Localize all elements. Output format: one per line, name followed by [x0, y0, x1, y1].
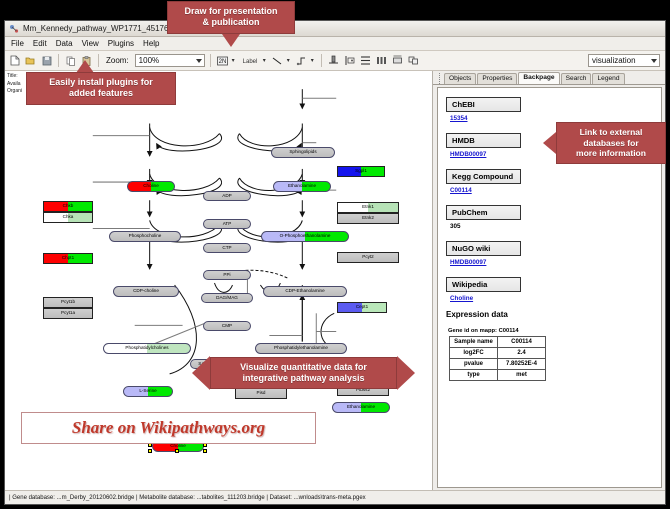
node-ethanolamine-bottom[interactable]: Ethanolamine	[332, 402, 390, 413]
callout-visualize-line1: Visualize quantitative data for	[215, 362, 392, 373]
backpage-heading-pubchem: PubChem	[446, 205, 521, 220]
node-label: CDP-Ethanolamine	[285, 289, 324, 294]
tab-objects[interactable]: Objects	[444, 73, 476, 84]
node-label: DAG/MAG	[216, 296, 238, 301]
table-row: log2FC 2.4	[450, 348, 546, 359]
node-label: CTP	[222, 246, 231, 251]
node-ppi[interactable]: PPi	[203, 270, 251, 280]
node-label: Choline	[170, 444, 186, 449]
table-row: type met	[450, 370, 546, 381]
backpage-link-wikipedia[interactable]: Choline	[450, 295, 661, 302]
menu-bar[interactable]: File Edit Data View Plugins Help	[5, 37, 665, 51]
expression-data-title: Expression data	[446, 310, 661, 319]
menu-item-data[interactable]: Data	[55, 39, 74, 48]
node-sgpl1[interactable]: Sgpl1	[337, 166, 385, 177]
node-choline-top[interactable]: Choline	[127, 181, 175, 192]
node-etnk2[interactable]: Etnk2	[337, 213, 399, 224]
node-label: Phosphocholine	[129, 234, 162, 239]
node-label: Sphingolipids	[289, 150, 316, 155]
title-bar: Mm_Kennedy_pathway_WP1771_45176.gpml	[5, 21, 665, 37]
expr-key-pvalue: pvalue	[450, 359, 498, 370]
line-dropdown-icon[interactable]: ▾	[287, 57, 290, 64]
visualization-value: visualization	[592, 56, 636, 65]
distribute-icon[interactable]	[375, 54, 388, 68]
meta-available: Availa	[7, 81, 22, 89]
toolbar-separator	[321, 54, 322, 67]
node-phosphatidylcholines[interactable]: Phosphatidylcholines	[103, 343, 191, 354]
stack-icon[interactable]	[359, 54, 372, 68]
resize-handle-s[interactable]	[175, 449, 179, 453]
node-label: L-Serine	[139, 389, 156, 394]
pathvisio-icon	[9, 24, 19, 34]
expr-val-log2fc: 2.4	[498, 348, 546, 359]
group-icon[interactable]	[407, 54, 420, 68]
backpage-value-pubchem: 305	[450, 223, 661, 230]
node-label: Pisd	[257, 391, 266, 396]
interaction-dropdown-icon[interactable]: ▾	[311, 57, 314, 64]
node-pcyt2[interactable]: Pcyt2	[337, 252, 399, 263]
callout-link-line1: Link to external	[563, 127, 659, 138]
callout-link: Link to external databases for more info…	[543, 122, 666, 164]
node-label: Chka	[63, 215, 74, 220]
expr-val-pvalue: 7.80252E-4	[498, 359, 546, 370]
tab-legend[interactable]: Legend	[592, 73, 624, 84]
backpage-heading-wikipedia: Wikipedia	[446, 277, 521, 292]
menu-item-help[interactable]: Help	[142, 39, 160, 48]
backpage-link-chebi[interactable]: 15354	[450, 115, 661, 122]
node-cept1[interactable]: Cept1	[337, 302, 387, 313]
expr-key-sample: Sample name	[450, 337, 498, 348]
gene-id-line: Gene id on mapp: C00114	[448, 328, 661, 334]
node-label: Etnk1	[362, 205, 374, 210]
node-chpt1[interactable]: Chpt1	[43, 253, 93, 264]
callout-plugins-line2: added features	[33, 88, 169, 99]
chevron-down-icon[interactable]	[196, 59, 202, 63]
node-label: Choline	[143, 184, 159, 189]
callout-plugins: Easily install plugins for added feature…	[26, 60, 176, 105]
line-icon[interactable]	[271, 54, 284, 68]
share-callout-text: Share on Wikipathways.org	[72, 418, 265, 438]
node-dagmag[interactable]: DAG/MAG	[201, 293, 253, 303]
callout-link-line3: more information	[563, 148, 659, 159]
callout-link-line2: databases for	[563, 138, 659, 149]
tab-search[interactable]: Search	[561, 73, 592, 84]
window-title: Mm_Kennedy_pathway_WP1771_45176.gpml	[23, 24, 188, 33]
menu-item-edit[interactable]: Edit	[32, 39, 48, 48]
expr-key-type: type	[450, 370, 498, 381]
node-o-phosphoethanolamine[interactable]: O-Phosphoethanolamine	[261, 231, 349, 242]
node-cdp-choline[interactable]: CDP-choline	[113, 286, 179, 297]
meta-organism: Organi	[7, 88, 22, 96]
status-text: | Gene database: ...m_Derby_20120602.bri…	[9, 495, 366, 501]
callout-visualize-arrow-left-icon	[192, 356, 210, 390]
tab-grip	[439, 73, 442, 84]
node-cdp-ethanolamine[interactable]: CDP-Ethanolamine	[263, 286, 347, 297]
new-icon[interactable]	[8, 54, 21, 68]
callout-visualize: Visualize quantitative data for integrat…	[192, 356, 415, 390]
node-label: Chkb	[63, 204, 74, 209]
resize-handle-sw[interactable]	[148, 449, 152, 453]
callout-draw-line1: Draw for presentation	[174, 6, 288, 17]
node-ctp[interactable]: CTP	[203, 243, 251, 253]
node-l-serine-left[interactable]: L-Serine	[123, 386, 173, 397]
backpage-heading-nugo: NuGO wiki	[446, 241, 521, 256]
backpage-link-nugo[interactable]: HMDB00097	[450, 259, 661, 266]
pathway-metadata: Title: Availa Organi	[7, 73, 22, 96]
node-label: Cept1	[356, 305, 368, 310]
menu-item-view[interactable]: View	[81, 39, 100, 48]
pathway-canvas[interactable]: Title: Availa Organi	[5, 71, 433, 490]
callout-plugins-line1: Easily install plugins for	[33, 77, 169, 88]
meta-title: Title:	[7, 73, 22, 81]
label-icon[interactable]: Label	[240, 54, 260, 68]
datanode-icon[interactable]: 2N	[216, 54, 229, 68]
node-label: ADP	[222, 194, 231, 199]
node-label: O-Phosphoethanolamine	[280, 234, 331, 239]
callout-draw-arrow-icon	[222, 34, 240, 47]
node-label: CDP-choline	[133, 289, 159, 294]
expr-val-type: met	[498, 370, 546, 381]
callout-link-box: Link to external databases for more info…	[556, 122, 666, 164]
label-dropdown-icon[interactable]: ▾	[263, 57, 266, 64]
node-label: Etnk2	[362, 216, 374, 221]
node-chka[interactable]: Chka	[43, 212, 93, 223]
callout-draw-box: Draw for presentation & publication	[167, 1, 295, 34]
menu-item-file[interactable]: File	[10, 39, 25, 48]
node-label: Ethanolamine	[288, 184, 316, 189]
callout-visualize-box: Visualize quantitative data for integrat…	[210, 357, 397, 390]
node-ethanolamine-top[interactable]: Ethanolamine	[273, 181, 331, 192]
resize-handle-se[interactable]	[203, 449, 207, 453]
node-atp[interactable]: ATP	[203, 219, 251, 229]
align-top-icon[interactable]	[327, 54, 340, 68]
interaction-icon[interactable]	[295, 54, 308, 68]
node-label: ATP	[223, 222, 232, 227]
status-bar: | Gene database: ...m_Derby_20120602.bri…	[5, 490, 665, 504]
node-phosphocholine[interactable]: Phosphocholine	[109, 231, 181, 242]
callout-visualize-line2: integrative pathway analysis	[215, 373, 392, 384]
callout-plugins-box: Easily install plugins for added feature…	[26, 72, 176, 105]
table-row: Sample name C00114	[450, 337, 546, 348]
node-phosphatidylethanolamine[interactable]: Phosphatidylethanolamine	[255, 343, 347, 354]
backpage-link-kegg[interactable]: C00114	[450, 187, 661, 194]
datanode-dropdown-icon[interactable]: ▾	[232, 57, 235, 64]
toolbar-separator	[210, 54, 211, 67]
node-sphingolipids[interactable]: Sphingolipids	[271, 147, 335, 158]
node-label: Pcyt1a	[61, 311, 75, 316]
node-adp[interactable]: ADP	[203, 191, 251, 201]
node-label: Phosphatidylethanolamine	[274, 346, 328, 351]
node-label: PPi	[223, 273, 230, 278]
node-pcyt1b[interactable]: Pcyt1b	[43, 297, 93, 308]
expr-val-sample: C00114	[498, 337, 546, 348]
callout-draw-line2: & publication	[174, 17, 288, 28]
tab-properties[interactable]: Properties	[477, 73, 517, 84]
expr-key-log2fc: log2FC	[450, 348, 498, 359]
node-pcyt1a[interactable]: Pcyt1a	[43, 308, 93, 319]
callout-visualize-arrow-right-icon	[397, 356, 415, 390]
node-etnk1[interactable]: Etnk1	[337, 202, 399, 213]
node-label: Ethanolamine	[347, 405, 375, 410]
node-label: Chpt1	[62, 256, 74, 261]
chevron-down-icon[interactable]	[651, 59, 657, 63]
backpage-heading-hmdb: HMDB	[446, 133, 521, 148]
tab-backpage[interactable]: Backpage	[518, 72, 559, 84]
menu-item-plugins[interactable]: Plugins	[107, 39, 135, 48]
share-callout: Share on Wikipathways.org	[21, 412, 316, 444]
node-label: CMP	[222, 324, 232, 329]
visualization-combobox[interactable]: visualization	[588, 54, 660, 67]
node-label: Sgpl1	[355, 169, 367, 174]
callout-draw: Draw for presentation & publication	[167, 1, 295, 47]
expression-table: Sample name C00114 log2FC 2.4 pvalue 7.8…	[449, 336, 546, 381]
backpage-heading-chebi: ChEBI	[446, 97, 521, 112]
align-left-icon[interactable]	[343, 54, 356, 68]
svg-text:2N: 2N	[218, 59, 226, 65]
node-chkb[interactable]: Chkb	[43, 201, 93, 212]
callout-link-arrow-icon	[543, 132, 556, 154]
table-row: pvalue 7.80252E-4	[450, 359, 546, 370]
svg-text:Label: Label	[242, 59, 257, 65]
node-cmp[interactable]: CMP	[203, 321, 251, 331]
size-icon[interactable]	[391, 54, 404, 68]
node-label: Pcyt2	[362, 255, 374, 260]
node-label: Phosphatidylcholines	[125, 346, 168, 351]
side-panel-tabs[interactable]: Objects Properties Backpage Search Legen…	[433, 71, 665, 85]
node-label: Pcyt1b	[61, 300, 75, 305]
backpage-heading-kegg: Kegg Compound	[446, 169, 521, 184]
